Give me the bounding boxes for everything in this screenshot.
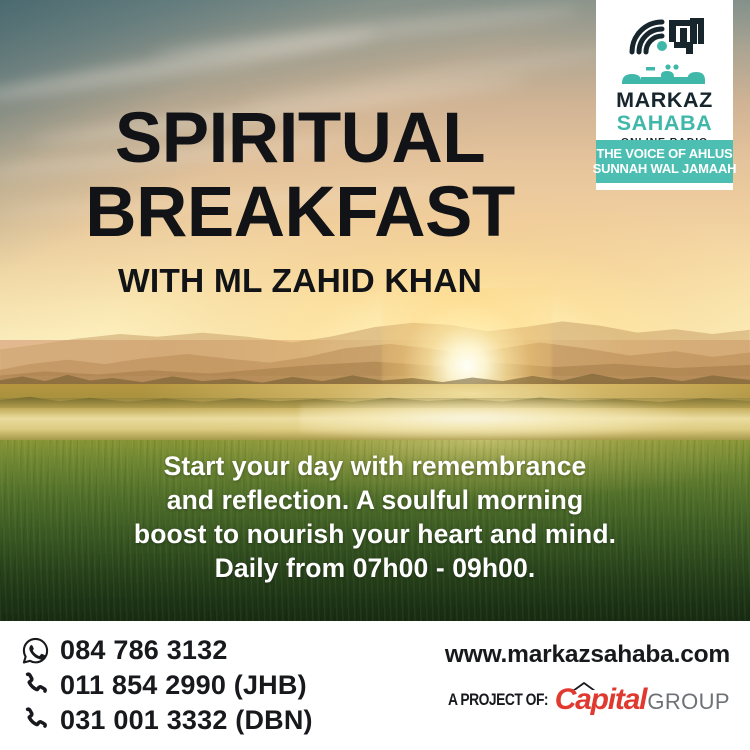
contact-row-whatsapp[interactable]: 084 786 3132	[18, 633, 313, 668]
sponsor-name: Capital	[555, 685, 647, 715]
footer-bar: 084 786 3132 011 854 2990 (JHB) 031 001 …	[0, 621, 750, 750]
contact-list: 084 786 3132 011 854 2990 (JHB) 031 001 …	[18, 633, 313, 738]
description-line-2: and reflection. A soulful morning	[0, 483, 750, 517]
water-highlight	[300, 398, 720, 446]
page-title-line1: SPIRITUAL	[0, 104, 600, 174]
description-block: Start your day with remembrance and refl…	[0, 449, 750, 585]
contact-row-jhb[interactable]: 011 854 2990 (JHB)	[18, 668, 313, 703]
contact-number: 011 854 2990 (JHB)	[60, 670, 307, 701]
contact-number: 031 001 3332 (DBN)	[60, 705, 313, 736]
website-url[interactable]: www.markazsahaba.com	[429, 641, 730, 669]
capital-group-logo: Capital GROUP	[555, 685, 730, 715]
headline-block: SPIRITUAL BREAKFAST WITH ML ZAHID KHAN	[0, 104, 600, 301]
roof-icon	[571, 679, 597, 690]
logo-name-sahaba: SAHABA	[617, 113, 713, 135]
description-line-4: Daily from 07h00 - 09h00.	[0, 551, 750, 585]
contact-row-dbn[interactable]: 031 001 3332 (DBN)	[18, 703, 313, 738]
description-line-1: Start your day with remembrance	[0, 449, 750, 483]
poster: SPIRITUAL BREAKFAST WITH ML ZAHID KHAN S…	[0, 0, 750, 750]
wifi-signal-icon	[622, 12, 708, 62]
logo-voice-banner: THE VOICE OF AHLUS SUNNAH WAL JAMAAH	[596, 140, 733, 183]
logo-name-markaz: MARKAZ	[616, 90, 713, 112]
phone-icon	[18, 671, 52, 701]
phone-icon	[18, 706, 52, 736]
sponsor-row: A PROJECT OF: Capital GROUP	[429, 685, 730, 715]
project-of-label: A PROJECT OF:	[448, 691, 548, 710]
subtitle-presenter: WITH ML ZAHID KHAN	[0, 263, 600, 301]
whatsapp-icon	[18, 636, 52, 666]
arabic-calligraphy-sahaba	[616, 63, 714, 89]
description-line-3: boost to nourish your heart and mind.	[0, 517, 750, 551]
banner-line-2: SUNNAH WAL JAMAAH	[593, 162, 737, 176]
contact-number: 084 786 3132	[60, 635, 228, 666]
banner-line-1: THE VOICE OF AHLUS	[596, 147, 732, 161]
sponsor-suffix: GROUP	[647, 691, 730, 713]
page-title-line2: BREAKFAST	[0, 178, 600, 248]
web-and-sponsor-block: www.markazsahaba.com A PROJECT OF: Capit…	[429, 641, 730, 715]
